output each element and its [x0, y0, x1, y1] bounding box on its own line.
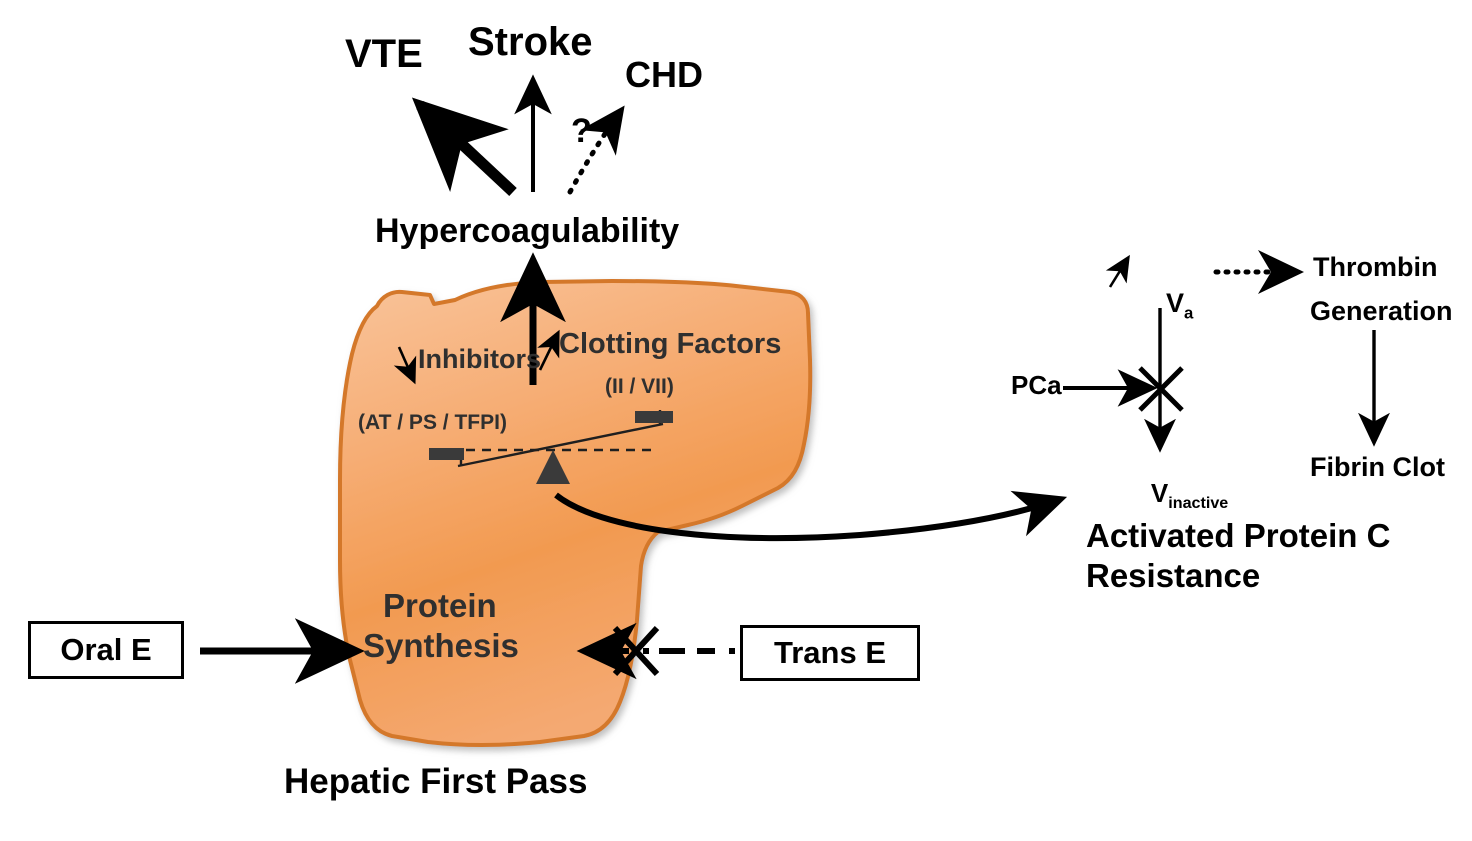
va-subscript: a	[1184, 304, 1193, 323]
oral-e-box[interactable]: Oral E	[28, 621, 184, 679]
hepatic-first-pass-caption: Hepatic First Pass	[284, 762, 587, 801]
hypercoagulability-label: Hypercoagulability	[375, 212, 679, 250]
va-label: Va	[1136, 258, 1193, 354]
fibrin-clot-label: Fibrin Clot	[1310, 452, 1445, 482]
balance-pan-clotting-factors	[635, 411, 673, 423]
v-inactive-subscript: inactive	[1168, 494, 1228, 512]
protein-synthesis-line-1: Protein	[383, 588, 497, 625]
diagram-canvas: VTE Stroke CHD ? Hypercoagulability Clot…	[0, 0, 1472, 841]
outcome-label-vte: VTE	[345, 32, 423, 77]
pca-label: PCa	[1011, 371, 1062, 400]
thrombin-generation-line-2: Generation	[1310, 296, 1453, 326]
protein-synthesis-line-2: Synthesis	[363, 628, 519, 665]
oral-e-label: Oral E	[60, 632, 151, 668]
chd-question-mark: ?	[571, 112, 592, 150]
inhibitors-detail: (AT / PS / TFPI)	[358, 411, 507, 435]
outcome-label-stroke: Stroke	[468, 20, 593, 65]
inhibitors-label: Inhibitors	[418, 344, 541, 374]
diagram-vector-layer	[0, 0, 1472, 841]
trans-e-box[interactable]: Trans E	[740, 625, 920, 681]
apc-resistance-title-line-2: Resistance	[1086, 558, 1260, 595]
balance-pan-inhibitors	[429, 448, 464, 460]
v-inactive-base: V	[1151, 478, 1168, 508]
vte-arrow	[420, 105, 513, 192]
apc-resistance-title-line-1: Activated Protein C	[1086, 518, 1390, 555]
va-base: V	[1166, 288, 1184, 318]
thrombin-generation-line-1: Thrombin	[1313, 252, 1437, 282]
clotting-factors-label: Clotting Factors	[559, 328, 781, 360]
outcome-label-chd: CHD	[625, 55, 703, 95]
clotting-factors-detail: (II / VII)	[605, 375, 674, 399]
va-up-arrow	[1110, 258, 1128, 287]
trans-e-label: Trans E	[774, 635, 886, 671]
